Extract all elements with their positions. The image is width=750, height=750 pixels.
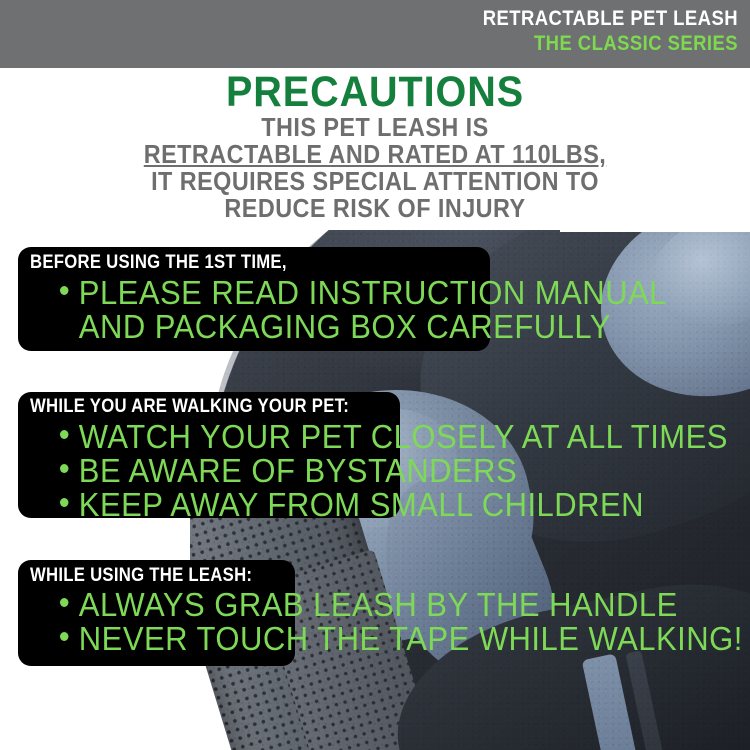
bullet-icon (60, 286, 68, 295)
header-bar: RETRACTABLE PET LEASH THE CLASSIC SERIES (0, 0, 750, 68)
list-item-label: BE AWARE OF BYSTANDERS (79, 454, 517, 488)
list-item: ALWAYS GRAB LEASH BY THE HANDLE (60, 588, 743, 622)
callout-1-list: PLEASE READ INSTRUCTION MANUAL AND PACKA… (60, 276, 706, 344)
bullet-icon (60, 498, 68, 507)
list-item: PLEASE READ INSTRUCTION MANUAL (60, 276, 667, 310)
list-item-label: WATCH YOUR PET CLOSELY AT ALL TIMES (79, 420, 728, 454)
callout-1-heading: BEFORE USING THE 1ST TIME, (30, 252, 287, 274)
list-item-label: NEVER TOUCH THE TAPE WHILE WALKING! (79, 622, 743, 656)
bullet-icon (60, 632, 68, 641)
header-product-name: RETRACTABLE PET LEASH (89, 6, 738, 31)
list-item: KEEP AWAY FROM SMALL CHILDREN (60, 488, 728, 522)
bullet-icon-placeholder (60, 320, 68, 329)
list-item: AND PACKAGING BOX CAREFULLY (60, 310, 667, 344)
bullet-icon (60, 430, 68, 439)
callout-3-list: ALWAYS GRAB LEASH BY THE HANDLE NEVER TO… (60, 588, 750, 656)
subtitle-line-1: THIS PET LEASH IS (38, 114, 713, 141)
leash-highlight-streak (582, 653, 653, 750)
precautions-poster: RETRACTABLE PET LEASH THE CLASSIC SERIES… (0, 0, 750, 750)
subtitle-line-3: IT REQUIRES SPECIAL ATTENTION TO (38, 168, 713, 195)
list-item: WATCH YOUR PET CLOSELY AT ALL TIMES (60, 420, 728, 454)
page-title: PRECAUTIONS (30, 70, 720, 114)
bullet-icon (60, 464, 68, 473)
list-item-label: AND PACKAGING BOX CAREFULLY (79, 310, 611, 344)
callout-3-heading: WHILE USING THE LEASH: (30, 565, 252, 587)
header-series-name: THE CLASSIC SERIES (89, 31, 738, 57)
leash-dark-streak (625, 650, 680, 750)
callout-2-heading: WHILE YOU ARE WALKING YOUR PET: (30, 396, 349, 418)
list-item: BE AWARE OF BYSTANDERS (60, 454, 728, 488)
title-block: PRECAUTIONS THIS PET LEASH IS RETRACTABL… (0, 70, 750, 222)
callout-2-list: WATCH YOUR PET CLOSELY AT ALL TIMES BE A… (60, 420, 750, 522)
subtitle-line-2: RETRACTABLE AND RATED AT 110LBS, (38, 141, 713, 168)
subtitle-line-4: REDUCE RISK OF INJURY (38, 195, 713, 222)
list-item-label: KEEP AWAY FROM SMALL CHILDREN (79, 488, 644, 522)
bullet-icon (60, 598, 68, 607)
list-item-label: ALWAYS GRAB LEASH BY THE HANDLE (79, 588, 678, 622)
list-item: NEVER TOUCH THE TAPE WHILE WALKING! (60, 622, 743, 656)
list-item-label: PLEASE READ INSTRUCTION MANUAL (79, 276, 667, 310)
